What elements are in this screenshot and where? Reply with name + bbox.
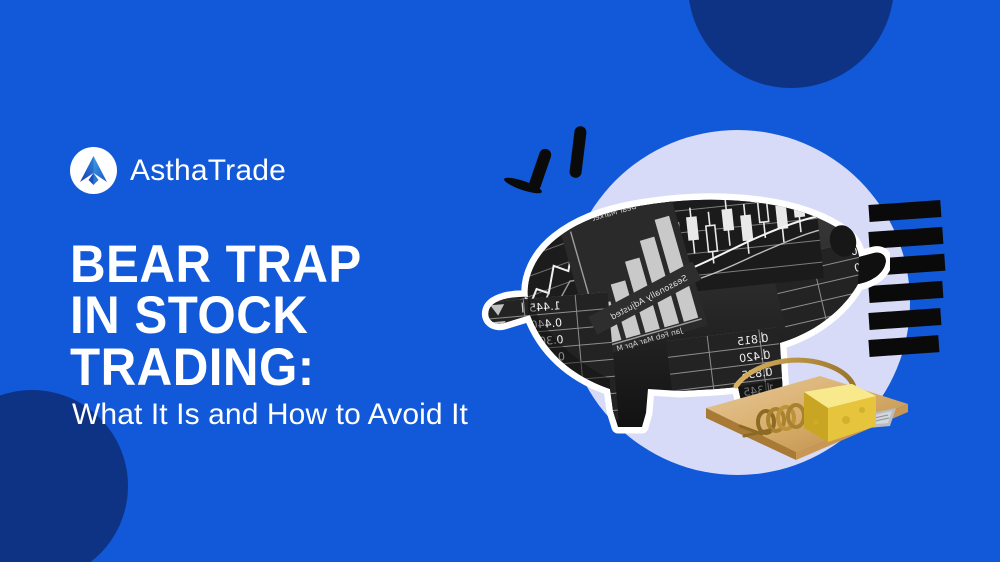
svg-text:1.7: 1.7 <box>874 288 890 305</box>
page-title: BEAR TRAP IN STOCK TRADING: <box>70 239 470 395</box>
astha-arrow-logo-icon <box>70 147 117 194</box>
trap-cheese-bait <box>804 384 876 442</box>
navy-circle-top-decoration <box>688 0 894 88</box>
page-subtitle: What It Is and How to Avoid It <box>72 398 592 432</box>
headline-line-1: BEAR TRAP <box>70 239 470 291</box>
brand-name: AsthaTrade <box>130 154 286 188</box>
brand-lockup: AsthaTrade <box>70 147 286 194</box>
headline-line-2: IN STOCK <box>70 290 470 342</box>
mousetrap-artwork: Wooden mousetrap base with brass spring … <box>700 330 915 465</box>
headline-line-3: TRADING: <box>70 342 470 394</box>
banner-canvas: Dark bear silhouette filled with mirrore… <box>0 0 1000 562</box>
svg-text:0.140: 0.140 <box>864 305 890 325</box>
